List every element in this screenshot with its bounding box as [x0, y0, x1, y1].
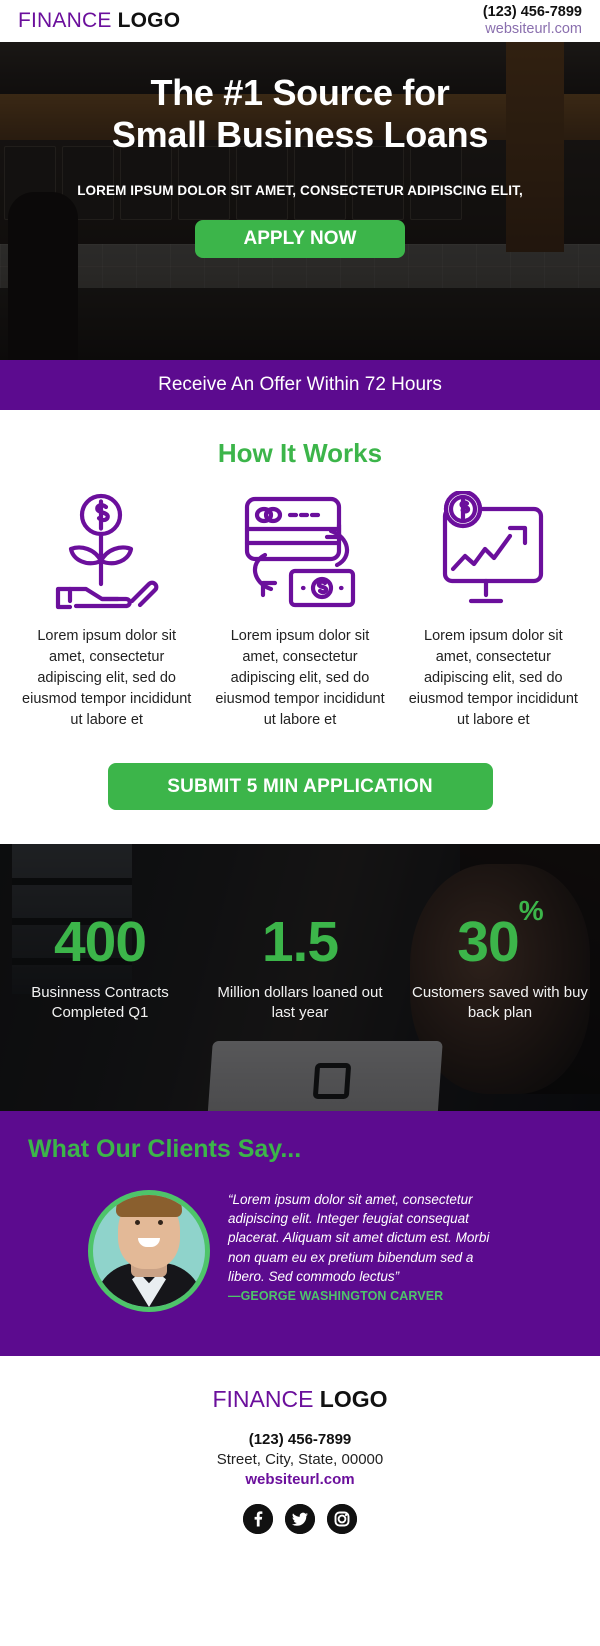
testimonial-avatar — [88, 1190, 210, 1312]
footer-logo-primary: FINANCE — [212, 1386, 313, 1412]
stat-label: Million dollars loaned out last year — [200, 983, 400, 1024]
how-it-works-item: Lorem ipsum dolor sit amet, consectetur … — [203, 483, 396, 731]
testimonial-author: —GEORGE WASHINGTON CARVER — [228, 1289, 498, 1303]
hero-section: The #1 Source for Small Business Loans L… — [0, 42, 600, 360]
how-it-works-title: How It Works — [0, 438, 600, 469]
stat-item: 400 Businness Contracts Completed Q1 — [0, 914, 200, 1111]
footer-website[interactable]: websiteurl.com — [0, 1471, 600, 1488]
testimonial-quote: “Lorem ipsum dolor sit amet, consectetur… — [228, 1190, 498, 1286]
hero-headline-line-1: The #1 Source for — [112, 72, 488, 114]
twitter-icon[interactable] — [285, 1504, 315, 1534]
how-it-works-item: Lorem ipsum dolor sit amet, consectetur … — [10, 483, 203, 731]
header-contact: (123) 456-7899 websiteurl.com — [483, 4, 582, 37]
stat-suffix: % — [519, 895, 543, 926]
social-links — [0, 1504, 600, 1534]
how-it-works-item-text: Lorem ipsum dolor sit amet, consectetur … — [397, 626, 590, 731]
submit-application-button[interactable]: SUBMIT 5 MIN APPLICATION — [108, 763, 493, 810]
offer-banner-text: Receive An Offer Within 72 Hours — [158, 374, 442, 396]
stat-value: 30% — [400, 914, 600, 971]
how-it-works-section: How It Works Lorem ipsum dolor sit amet,… — [0, 410, 600, 844]
stat-value: 400 — [0, 914, 200, 971]
facebook-icon[interactable] — [243, 1504, 273, 1534]
testimonial-section: What Our Clients Say... “Lorem ipsum dol… — [0, 1111, 600, 1356]
card-cash-exchange-icon — [235, 483, 365, 618]
offer-banner: Receive An Offer Within 72 Hours — [0, 360, 600, 410]
monitor-growth-chart-icon — [431, 483, 555, 618]
how-it-works-item: Lorem ipsum dolor sit amet, consectetur … — [397, 483, 590, 731]
header-website[interactable]: websiteurl.com — [483, 21, 582, 38]
hero-headline: The #1 Source for Small Business Loans — [112, 72, 488, 157]
hero-subheadline: LOREM IPSUM DOLOR SIT AMET, CONSECTETUR … — [77, 183, 523, 198]
site-header: FINANCE LOGO (123) 456-7899 websiteurl.c… — [0, 0, 600, 42]
footer-phone[interactable]: (123) 456-7899 — [0, 1431, 600, 1448]
stats-section: 400 Businness Contracts Completed Q1 1.5… — [0, 844, 600, 1111]
testimonial-title: What Our Clients Say... — [0, 1135, 600, 1164]
footer-logo-secondary: LOGO — [320, 1386, 388, 1412]
header-logo-secondary: LOGO — [118, 9, 181, 32]
how-it-works-item-text: Lorem ipsum dolor sit amet, consectetur … — [10, 626, 203, 731]
stat-label: Businness Contracts Completed Q1 — [0, 983, 200, 1024]
header-logo[interactable]: FINANCE LOGO — [18, 9, 180, 33]
footer-address: Street, City, State, 00000 — [0, 1451, 600, 1468]
apply-now-button[interactable]: APPLY NOW — [195, 220, 405, 258]
instagram-icon[interactable] — [327, 1504, 357, 1534]
hero-headline-line-2: Small Business Loans — [112, 114, 488, 156]
header-logo-primary: FINANCE — [18, 9, 112, 32]
how-it-works-columns: Lorem ipsum dolor sit amet, consectetur … — [0, 469, 600, 731]
stat-item: 30% Customers saved with buy back plan — [400, 914, 600, 1111]
stat-label: Customers saved with buy back plan — [400, 983, 600, 1024]
footer-logo[interactable]: FINANCE LOGO — [0, 1386, 600, 1413]
stat-item: 1.5 Million dollars loaned out last year — [200, 914, 400, 1111]
money-plant-in-hand-icon — [48, 483, 166, 618]
stat-value: 1.5 — [200, 914, 400, 971]
site-footer: FINANCE LOGO (123) 456-7899 Street, City… — [0, 1356, 600, 1556]
header-phone[interactable]: (123) 456-7899 — [483, 4, 582, 21]
how-it-works-item-text: Lorem ipsum dolor sit amet, consectetur … — [203, 626, 396, 731]
